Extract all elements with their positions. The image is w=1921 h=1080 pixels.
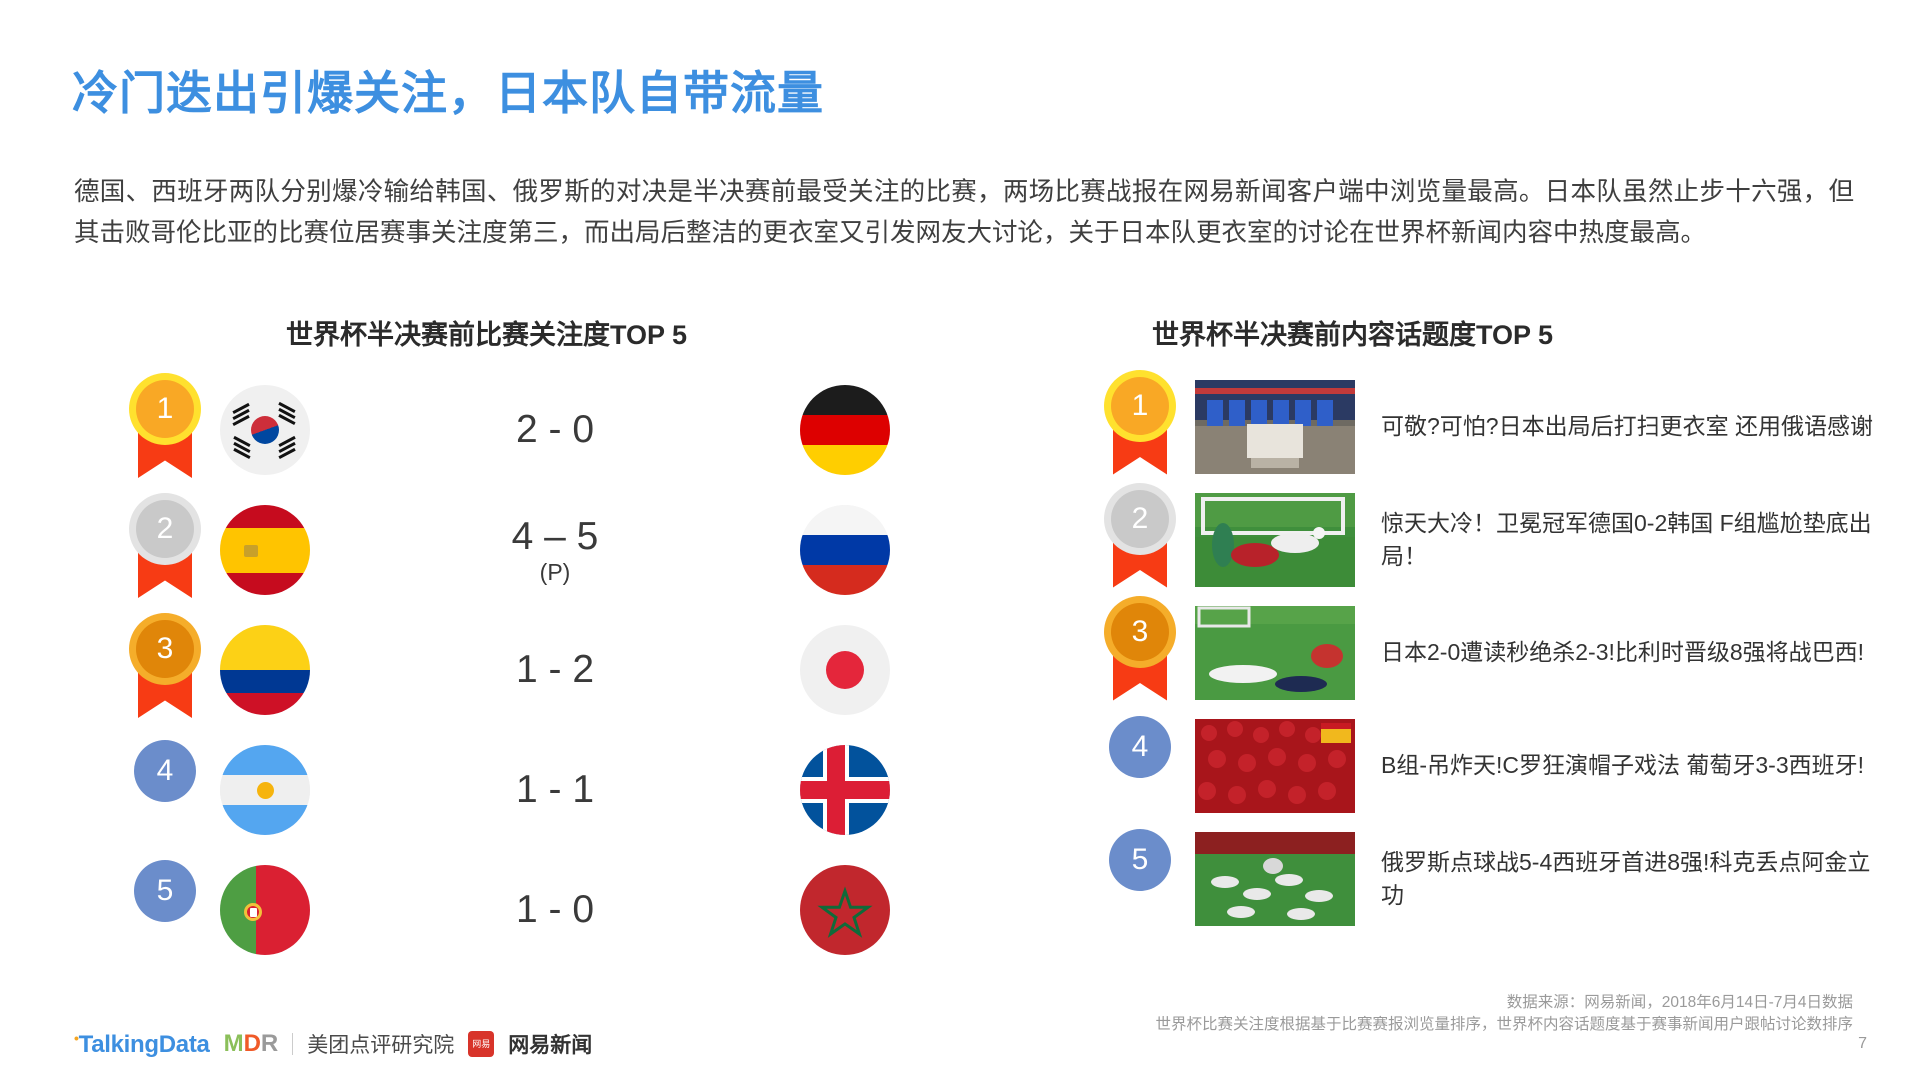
page-number: 7 [1858, 1035, 1867, 1053]
match-row: 5 1 - 0 [110, 850, 890, 970]
topic-row: 5 俄罗斯点球战5-4西班牙首进8强!科克丢点阿金立功 [1085, 822, 1875, 935]
footer-logos: •TalkingData MDR 美团点评研究院 网易 网易新闻 [74, 1029, 592, 1059]
topic-row: 4 B组-吊炸天!C罗狂演帽子戏法 葡萄牙3 [1085, 709, 1875, 822]
flag-iceland [800, 745, 890, 835]
medal-icon: 3 [1111, 603, 1169, 661]
topic-row: 1 可敬?可怕?日本出局后打扫更衣室 还用俄语感谢 [1085, 370, 1875, 483]
medal-icon: 1 [136, 380, 194, 438]
medal-icon: 1 [1111, 377, 1169, 435]
ribbon-icon [1113, 542, 1167, 588]
penalty-label: (P) [310, 560, 800, 585]
flag-argentina [220, 745, 310, 835]
ribbon-icon [1113, 655, 1167, 701]
pentagram-icon [800, 865, 890, 955]
match-score: 4 – 5 (P) [310, 516, 800, 585]
page-title: 冷门迭出引爆关注，日本队自带流量 [72, 57, 824, 123]
rank-badge-3: 3 [1085, 603, 1195, 703]
netease-badge-icon: 网易 [468, 1031, 494, 1057]
meituan-research-label: 美团点评研究院 [307, 1029, 454, 1059]
talkingdata-logo: •TalkingData [74, 1030, 210, 1059]
slide-description: 德国、西班牙两队分别爆冷输给韩国、俄罗斯的对决是半决赛前最受关注的比赛，两场比赛… [74, 172, 1854, 254]
match-score: 2 - 0 [310, 409, 800, 451]
flag-japan [800, 625, 890, 715]
logo-divider [292, 1033, 293, 1055]
netease-news-label: 网易新闻 [508, 1029, 592, 1059]
topic-title: 可敬?可怕?日本出局后打扫更衣室 还用俄语感谢 [1381, 410, 1875, 443]
ribbon-icon [1113, 429, 1167, 475]
topic-row: 3 日本2-0遭读秒绝杀2-3!比利时晋级8强将战巴西! [1085, 596, 1875, 709]
match-row: 2 4 – 5 (P) [110, 490, 890, 610]
match-score: 1 - 1 [310, 769, 800, 811]
rank-circle: 4 [134, 740, 196, 802]
medal-icon: 2 [136, 500, 194, 558]
rank-badge-3: 3 [110, 620, 220, 720]
flag-germany [800, 385, 890, 475]
medal-icon: 3 [136, 620, 194, 678]
rank-circle: 5 [1109, 829, 1171, 891]
rank-badge-2: 2 [110, 500, 220, 600]
thumbnail-players-on-ground[interactable] [1195, 606, 1355, 700]
medal-icon: 2 [1111, 490, 1169, 548]
topic-row: 2 惊天大冷！卫冕冠军德国0-2韩国 F组尴尬垫底出局！ [1085, 483, 1875, 596]
flag-spain [220, 505, 310, 595]
sun-of-may-icon [257, 782, 274, 799]
rank-badge-4: 4 [110, 740, 220, 840]
ribbon-icon [138, 552, 192, 598]
match-row: 1 2 - 0 [110, 370, 890, 490]
thumbnail-pitch-celebration[interactable] [1195, 832, 1355, 926]
match-score: 1 - 2 [310, 649, 800, 691]
ribbon-icon [138, 672, 192, 718]
footnote-source: 数据来源：网易新闻，2018年6月14日-7月4日数据 [1507, 990, 1853, 1012]
match-row: 4 1 - 1 [110, 730, 890, 850]
flag-russia [800, 505, 890, 595]
thumbnail-locker-room[interactable] [1195, 380, 1355, 474]
rank-badge-2: 2 [1085, 490, 1195, 590]
flag-morocco [800, 865, 890, 955]
topic-title: 惊天大冷！卫冕冠军德国0-2韩国 F组尴尬垫底出局！ [1381, 507, 1875, 573]
rank-badge-1: 1 [110, 380, 220, 480]
flag-colombia [220, 625, 310, 715]
mdr-logo: MDR [224, 1030, 279, 1058]
topic-title: 俄罗斯点球战5-4西班牙首进8强!科克丢点阿金立功 [1381, 846, 1875, 912]
left-section-heading: 世界杯半决赛前比赛关注度TOP 5 [286, 313, 687, 352]
match-ranking-list: 1 2 - 0 [110, 370, 890, 970]
taegeuk-symbol [251, 416, 279, 444]
rank-circle: 5 [134, 860, 196, 922]
match-score: 1 - 0 [310, 889, 800, 931]
flag-south-korea [220, 385, 310, 475]
ribbon-icon [138, 432, 192, 478]
rank-badge-4: 4 [1085, 716, 1195, 816]
right-section-heading: 世界杯半决赛前内容话题度TOP 5 [1152, 313, 1553, 352]
thumbnail-red-crowd[interactable] [1195, 719, 1355, 813]
flag-portugal [220, 865, 310, 955]
slide-page: 冷门迭出引爆关注，日本队自带流量 德国、西班牙两队分别爆冷输给韩国、俄罗斯的对决… [0, 0, 1921, 1080]
rank-circle: 4 [1109, 716, 1171, 778]
rank-badge-1: 1 [1085, 377, 1195, 477]
hinomaru-symbol [826, 651, 864, 689]
rank-badge-5: 5 [1085, 829, 1195, 929]
rank-badge-5: 5 [110, 860, 220, 960]
topic-title: B组-吊炸天!C罗狂演帽子戏法 葡萄牙3-3西班牙! [1381, 749, 1875, 782]
match-row: 3 1 - 2 [110, 610, 890, 730]
topic-ranking-list: 1 可敬?可怕?日本出局后打扫更衣室 还用俄语感谢 [1085, 370, 1875, 935]
footnote-method: 世界杯比赛关注度根据基于比赛赛报浏览量排序，世界杯内容话题度基于赛事新闻用户跟帖… [1155, 1012, 1853, 1034]
thumbnail-goal-save[interactable] [1195, 493, 1355, 587]
spain-crest [244, 545, 258, 557]
topic-title: 日本2-0遭读秒绝杀2-3!比利时晋级8强将战巴西! [1381, 636, 1875, 669]
